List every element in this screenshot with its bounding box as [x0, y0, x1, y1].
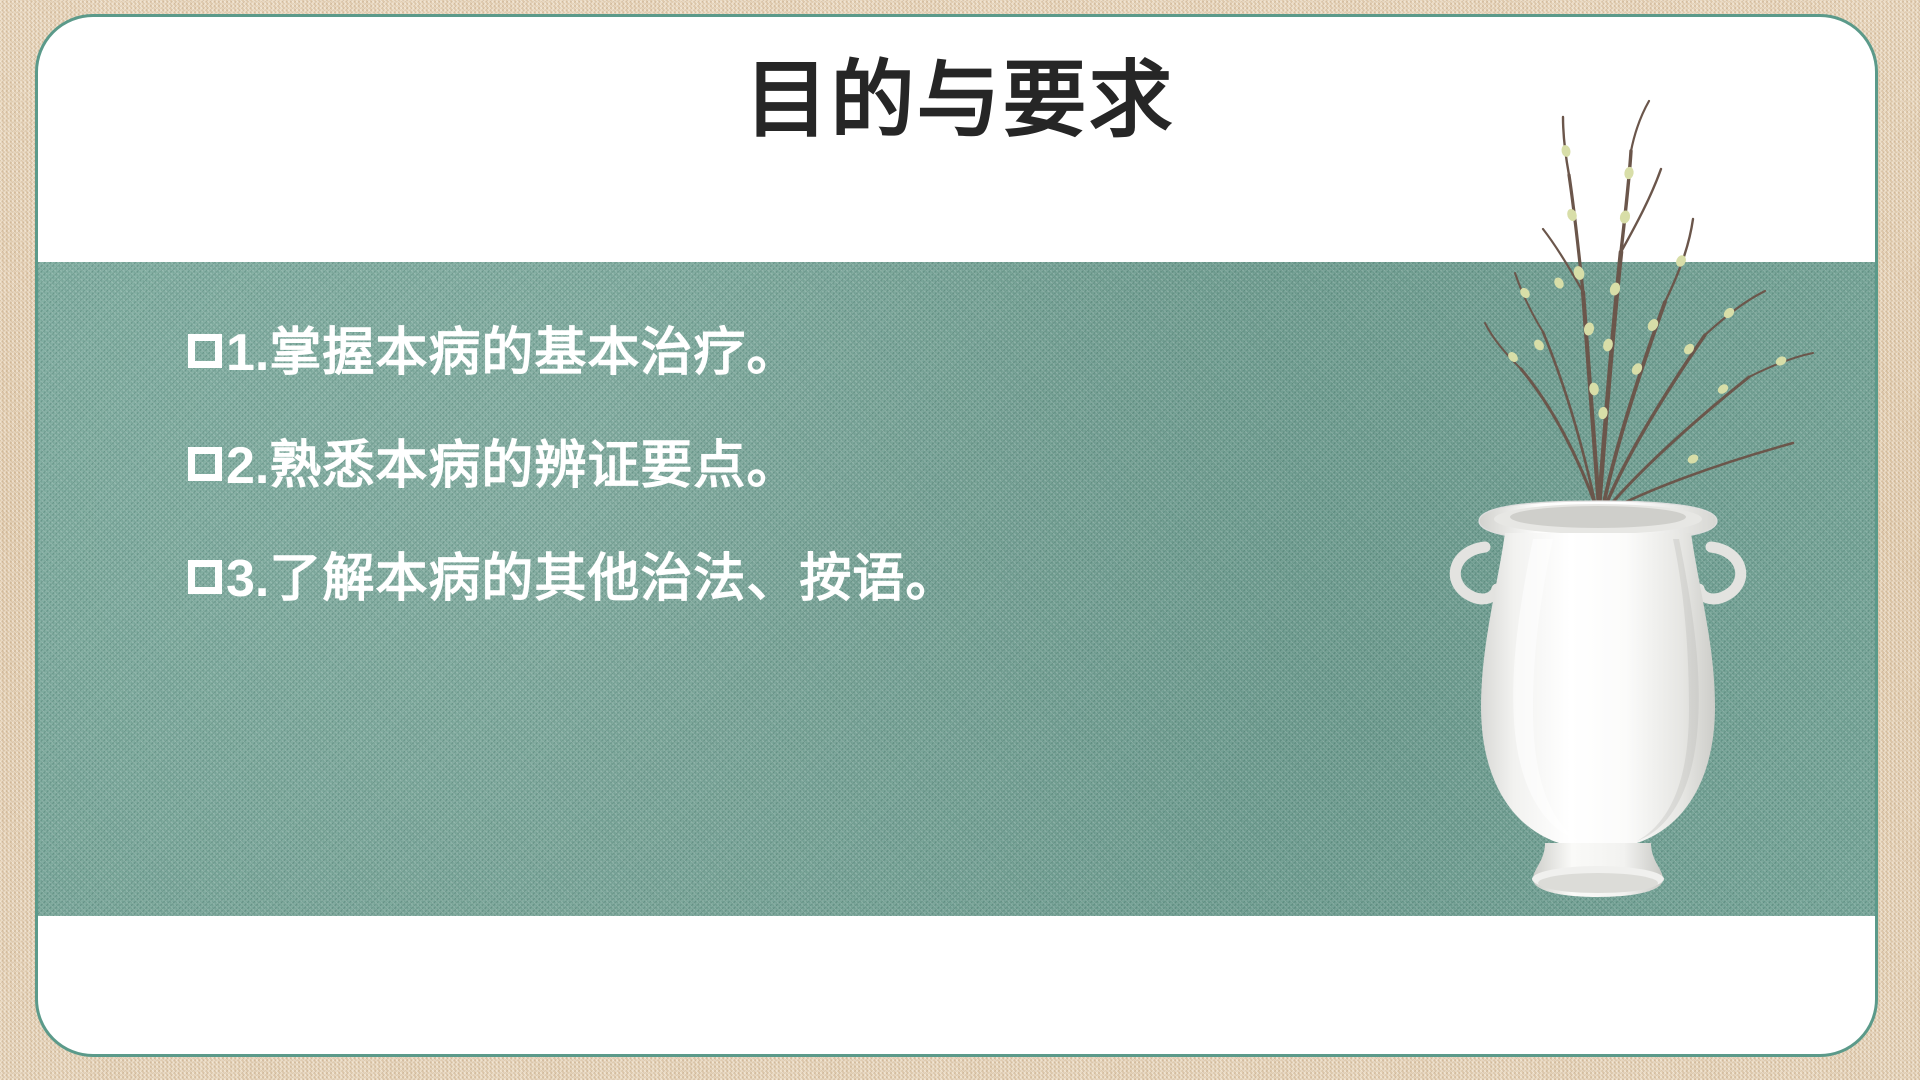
list-item-label: 熟悉本病的辨证要点。: [269, 423, 799, 498]
hollow-square-bullet-icon: [188, 334, 222, 368]
list-item-number: 1.: [226, 323, 269, 383]
page-title: 目的与要求: [38, 53, 1878, 147]
list-item: 1. 掌握本病的基本治疗。: [188, 310, 1368, 385]
list-item: 2. 熟悉本病的辨证要点。: [188, 423, 1368, 498]
bullet-list: 1. 掌握本病的基本治疗。 2. 熟悉本病的辨证要点。 3. 了解本病的其他治法…: [188, 310, 1368, 649]
content-band: 1. 掌握本病的基本治疗。 2. 熟悉本病的辨证要点。 3. 了解本病的其他治法…: [38, 262, 1878, 916]
slide-card: 目的与要求 1. 掌握本病的基本治疗。 2. 熟悉本病的辨证要点。 3. 了解本…: [35, 14, 1878, 1057]
list-item-label: 了解本病的其他治法、按语。: [269, 536, 958, 611]
list-item-label: 掌握本病的基本治疗。: [269, 310, 799, 385]
list-item-number: 3.: [226, 549, 269, 609]
hollow-square-bullet-icon: [188, 447, 222, 481]
slide-canvas: 目的与要求 1. 掌握本病的基本治疗。 2. 熟悉本病的辨证要点。 3. 了解本…: [0, 0, 1920, 1080]
hollow-square-bullet-icon: [188, 560, 222, 594]
list-item: 3. 了解本病的其他治法、按语。: [188, 536, 1368, 611]
list-item-number: 2.: [226, 436, 269, 496]
